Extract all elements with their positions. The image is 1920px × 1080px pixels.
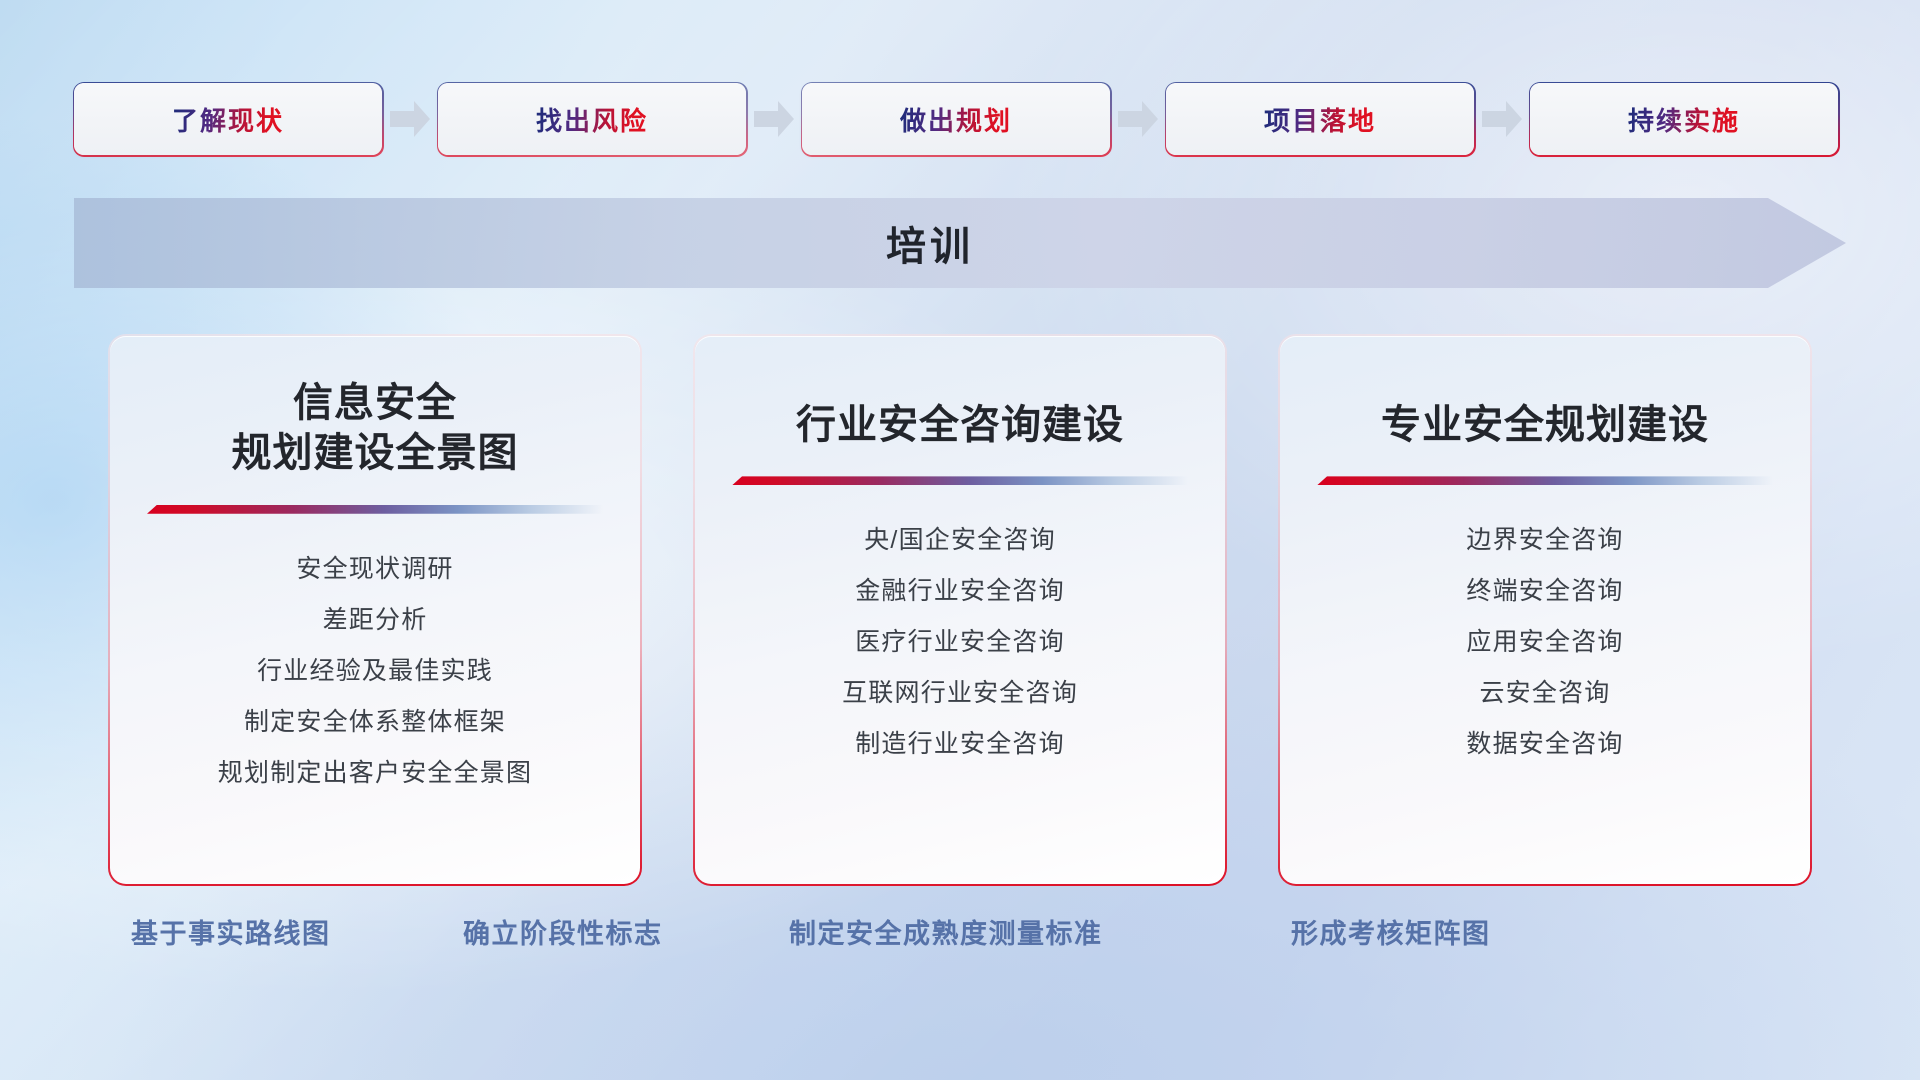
footnote-3: 形成考核矩阵图	[1291, 912, 1491, 951]
process-step-4-label: 持续实施	[1628, 101, 1740, 138]
list-item: 金融行业安全咨询	[855, 570, 1065, 612]
training-banner: 培训	[74, 198, 1846, 288]
list-item: 边界安全咨询	[1466, 519, 1623, 561]
list-item: 互联网行业安全咨询	[842, 672, 1078, 714]
footnote-row: 基于事实路线图 确立阶段性标志 制定安全成熟度测量标准 形成考核矩阵图	[0, 912, 1920, 972]
card-2[interactable]: 专业安全规划建设 边界安全咨询 终端安全咨询 应用安全咨询 云安全咨询 数据安全…	[1280, 336, 1810, 884]
step-arrow-icon-2	[1110, 83, 1166, 155]
card-0-divider	[147, 505, 603, 514]
card-0[interactable]: 信息安全 规划建设全景图 安全现状调研 差距分析 行业经验及最佳实践 制定安全体…	[110, 336, 640, 884]
process-step-2-surface: 做出规划	[802, 83, 1110, 155]
list-item: 差距分析	[323, 599, 428, 641]
card-1[interactable]: 行业安全咨询建设 央/国企安全咨询 金融行业安全咨询 医疗行业安全咨询 互联网行…	[695, 336, 1225, 884]
list-item: 安全现状调研	[296, 548, 453, 590]
list-item: 行业经验及最佳实践	[257, 650, 493, 692]
list-item: 央/国企安全咨询	[864, 519, 1056, 561]
process-step-4[interactable]: 持续实施	[1530, 83, 1838, 155]
process-step-0-label: 了解现状	[172, 101, 284, 138]
process-step-1[interactable]: 找出风险	[438, 83, 746, 155]
process-step-0[interactable]: 了解现状	[74, 83, 382, 155]
process-step-3[interactable]: 项目落地	[1166, 83, 1474, 155]
list-item: 终端安全咨询	[1466, 570, 1623, 612]
footnote-1: 确立阶段性标志	[463, 912, 663, 951]
card-1-divider	[732, 476, 1188, 485]
footnote-2: 制定安全成熟度测量标准	[789, 912, 1103, 951]
step-arrow-icon-1	[746, 83, 802, 155]
list-item: 云安全咨询	[1479, 672, 1610, 714]
process-step-row: 了解现状 找出风险 做出规划 项目落地	[74, 80, 1854, 158]
card-1-title: 行业安全咨询建设	[796, 400, 1124, 450]
card-row: 信息安全 规划建设全景图 安全现状调研 差距分析 行业经验及最佳实践 制定安全体…	[110, 336, 1810, 884]
list-item: 应用安全咨询	[1466, 621, 1623, 663]
step-arrow-icon-3	[1474, 83, 1530, 155]
card-1-list: 央/国企安全咨询 金融行业安全咨询 医疗行业安全咨询 互联网行业安全咨询 制造行…	[695, 519, 1225, 765]
list-item: 数据安全咨询	[1466, 723, 1623, 765]
process-step-0-surface: 了解现状	[74, 83, 382, 155]
process-step-3-surface: 项目落地	[1166, 83, 1474, 155]
process-step-2[interactable]: 做出规划	[802, 83, 1110, 155]
process-step-2-label: 做出规划	[900, 101, 1012, 138]
card-0-title: 信息安全 规划建设全景图	[232, 378, 519, 479]
card-0-surface: 信息安全 规划建设全景图 安全现状调研 差距分析 行业经验及最佳实践 制定安全体…	[110, 336, 640, 884]
list-item: 制定安全体系整体框架	[244, 701, 506, 743]
process-step-4-surface: 持续实施	[1530, 83, 1838, 155]
list-item: 制造行业安全咨询	[855, 723, 1065, 765]
footnote-0: 基于事实路线图	[131, 912, 331, 951]
list-item: 医疗行业安全咨询	[855, 621, 1065, 663]
list-item: 规划制定出客户安全全景图	[218, 752, 532, 794]
card-1-surface: 行业安全咨询建设 央/国企安全咨询 金融行业安全咨询 医疗行业安全咨询 互联网行…	[695, 336, 1225, 884]
banner-title: 培训	[74, 198, 1846, 288]
step-arrow-icon-0	[382, 83, 438, 155]
card-2-divider	[1317, 476, 1773, 485]
card-2-list: 边界安全咨询 终端安全咨询 应用安全咨询 云安全咨询 数据安全咨询	[1280, 519, 1810, 765]
process-step-1-label: 找出风险	[536, 101, 648, 138]
card-0-list: 安全现状调研 差距分析 行业经验及最佳实践 制定安全体系整体框架 规划制定出客户…	[110, 548, 640, 794]
card-2-title: 专业安全规划建设	[1381, 400, 1709, 450]
process-step-1-surface: 找出风险	[438, 83, 746, 155]
process-step-3-label: 项目落地	[1264, 101, 1376, 138]
card-2-surface: 专业安全规划建设 边界安全咨询 终端安全咨询 应用安全咨询 云安全咨询 数据安全…	[1280, 336, 1810, 884]
